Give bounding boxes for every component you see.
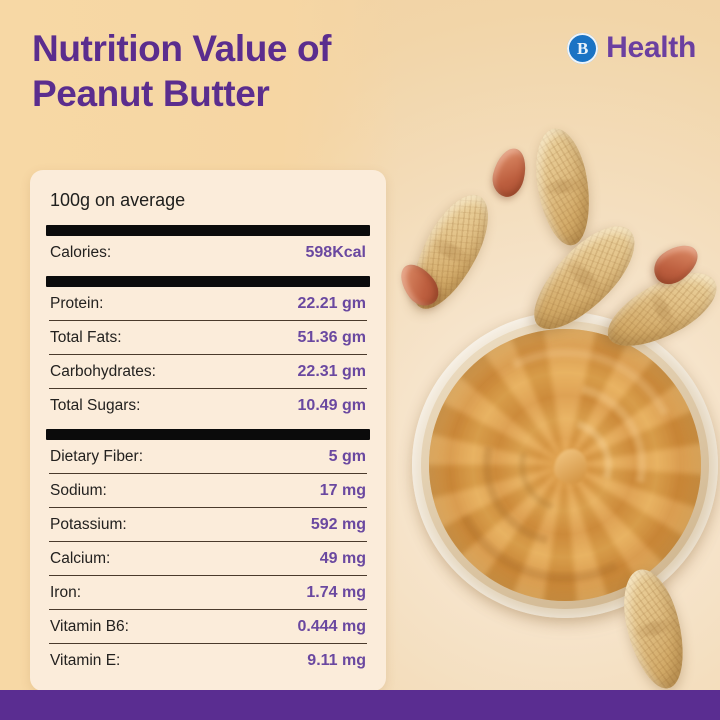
nutrition-row-label: Total Fats: [50,329,122,347]
nutrition-row-label: Sodium: [50,482,107,500]
nutrition-row-value: 5 gm [329,448,366,466]
nutrition-row-label: Dietary Fiber: [50,448,143,466]
nutrition-row-value: 10.49 gm [298,397,366,415]
nutrition-row-value: 1.74 mg [306,584,366,602]
group-gap [46,269,370,273]
nutrition-row-label: Total Sugars: [50,397,140,415]
nutrition-row: Vitamin E:9.11 mg [49,644,367,677]
nutrition-row-value: 51.36 gm [298,329,366,347]
nutrition-row-value: 592 mg [311,516,366,534]
nutrition-row-value: 598Kcal [306,244,367,262]
nutrition-row-label: Potassium: [50,516,127,534]
nutrition-group: Protein:22.21 gmTotal Fats:51.36 gmCarbo… [46,287,370,422]
peanut-butter-bowl [412,312,718,618]
group-separator-bar [46,276,370,287]
nutrition-row-label: Vitamin E: [50,652,120,670]
brand-mark-letter: B [577,40,588,57]
nutrition-group: Dietary Fiber:5 gmSodium:17 mgPotassium:… [46,440,370,677]
group-separator-bar [46,429,370,440]
nutrition-row: Potassium:592 mg [49,508,367,542]
page-title: Nutrition Value of Peanut Butter [32,26,331,116]
nutrition-row-label: Calories: [50,244,111,262]
nutrition-row-label: Carbohydrates: [50,363,156,381]
nutrition-row-value: 22.21 gm [298,295,366,313]
peanut-butter-surface [429,329,701,601]
brand-logo: B Health [567,31,696,65]
group-separator-bar [46,225,370,236]
group-gap [46,422,370,426]
nutrition-row: Iron:1.74 mg [49,576,367,610]
nutrition-row-value: 49 mg [320,550,366,568]
peanut-shell [529,125,597,249]
nutrition-row-value: 17 mg [320,482,366,500]
brand-b-icon: B [567,33,598,64]
peanut-kernel [489,145,531,200]
nutrition-group: Calories:598Kcal [46,236,370,269]
nutrition-card: 100g on average Calories:598KcalProtein:… [30,170,386,691]
nutrition-groups: Calories:598KcalProtein:22.21 gmTotal Fa… [46,225,370,677]
nutrition-row: Calories:598Kcal [49,236,367,269]
footer-bar [0,690,720,720]
nutrition-row-label: Iron: [50,584,81,602]
nutrition-row: Carbohydrates:22.31 gm [49,355,367,389]
page-title-line-2: Peanut Butter [32,71,331,116]
nutrition-row-label: Protein: [50,295,103,313]
nutrition-row: Sodium:17 mg [49,474,367,508]
nutrition-row: Protein:22.21 gm [49,287,367,321]
nutrition-row-value: 0.444 mg [298,618,366,636]
nutrition-row-value: 22.31 gm [298,363,366,381]
nutrition-row-label: Calcium: [50,550,110,568]
page-title-line-1: Nutrition Value of [32,26,331,71]
brand-name: Health [606,31,696,65]
nutrition-row-label: Vitamin B6: [50,618,129,636]
serving-size-heading: 100g on average [46,186,370,225]
nutrition-row: Vitamin B6:0.444 mg [49,610,367,644]
nutrition-row: Calcium:49 mg [49,542,367,576]
nutrition-row: Total Sugars:10.49 gm [49,389,367,422]
nutrition-row: Total Fats:51.36 gm [49,321,367,355]
nutrition-row: Dietary Fiber:5 gm [49,440,367,474]
swirl-center-peak [554,449,587,484]
nutrition-row-value: 9.11 mg [307,652,366,670]
